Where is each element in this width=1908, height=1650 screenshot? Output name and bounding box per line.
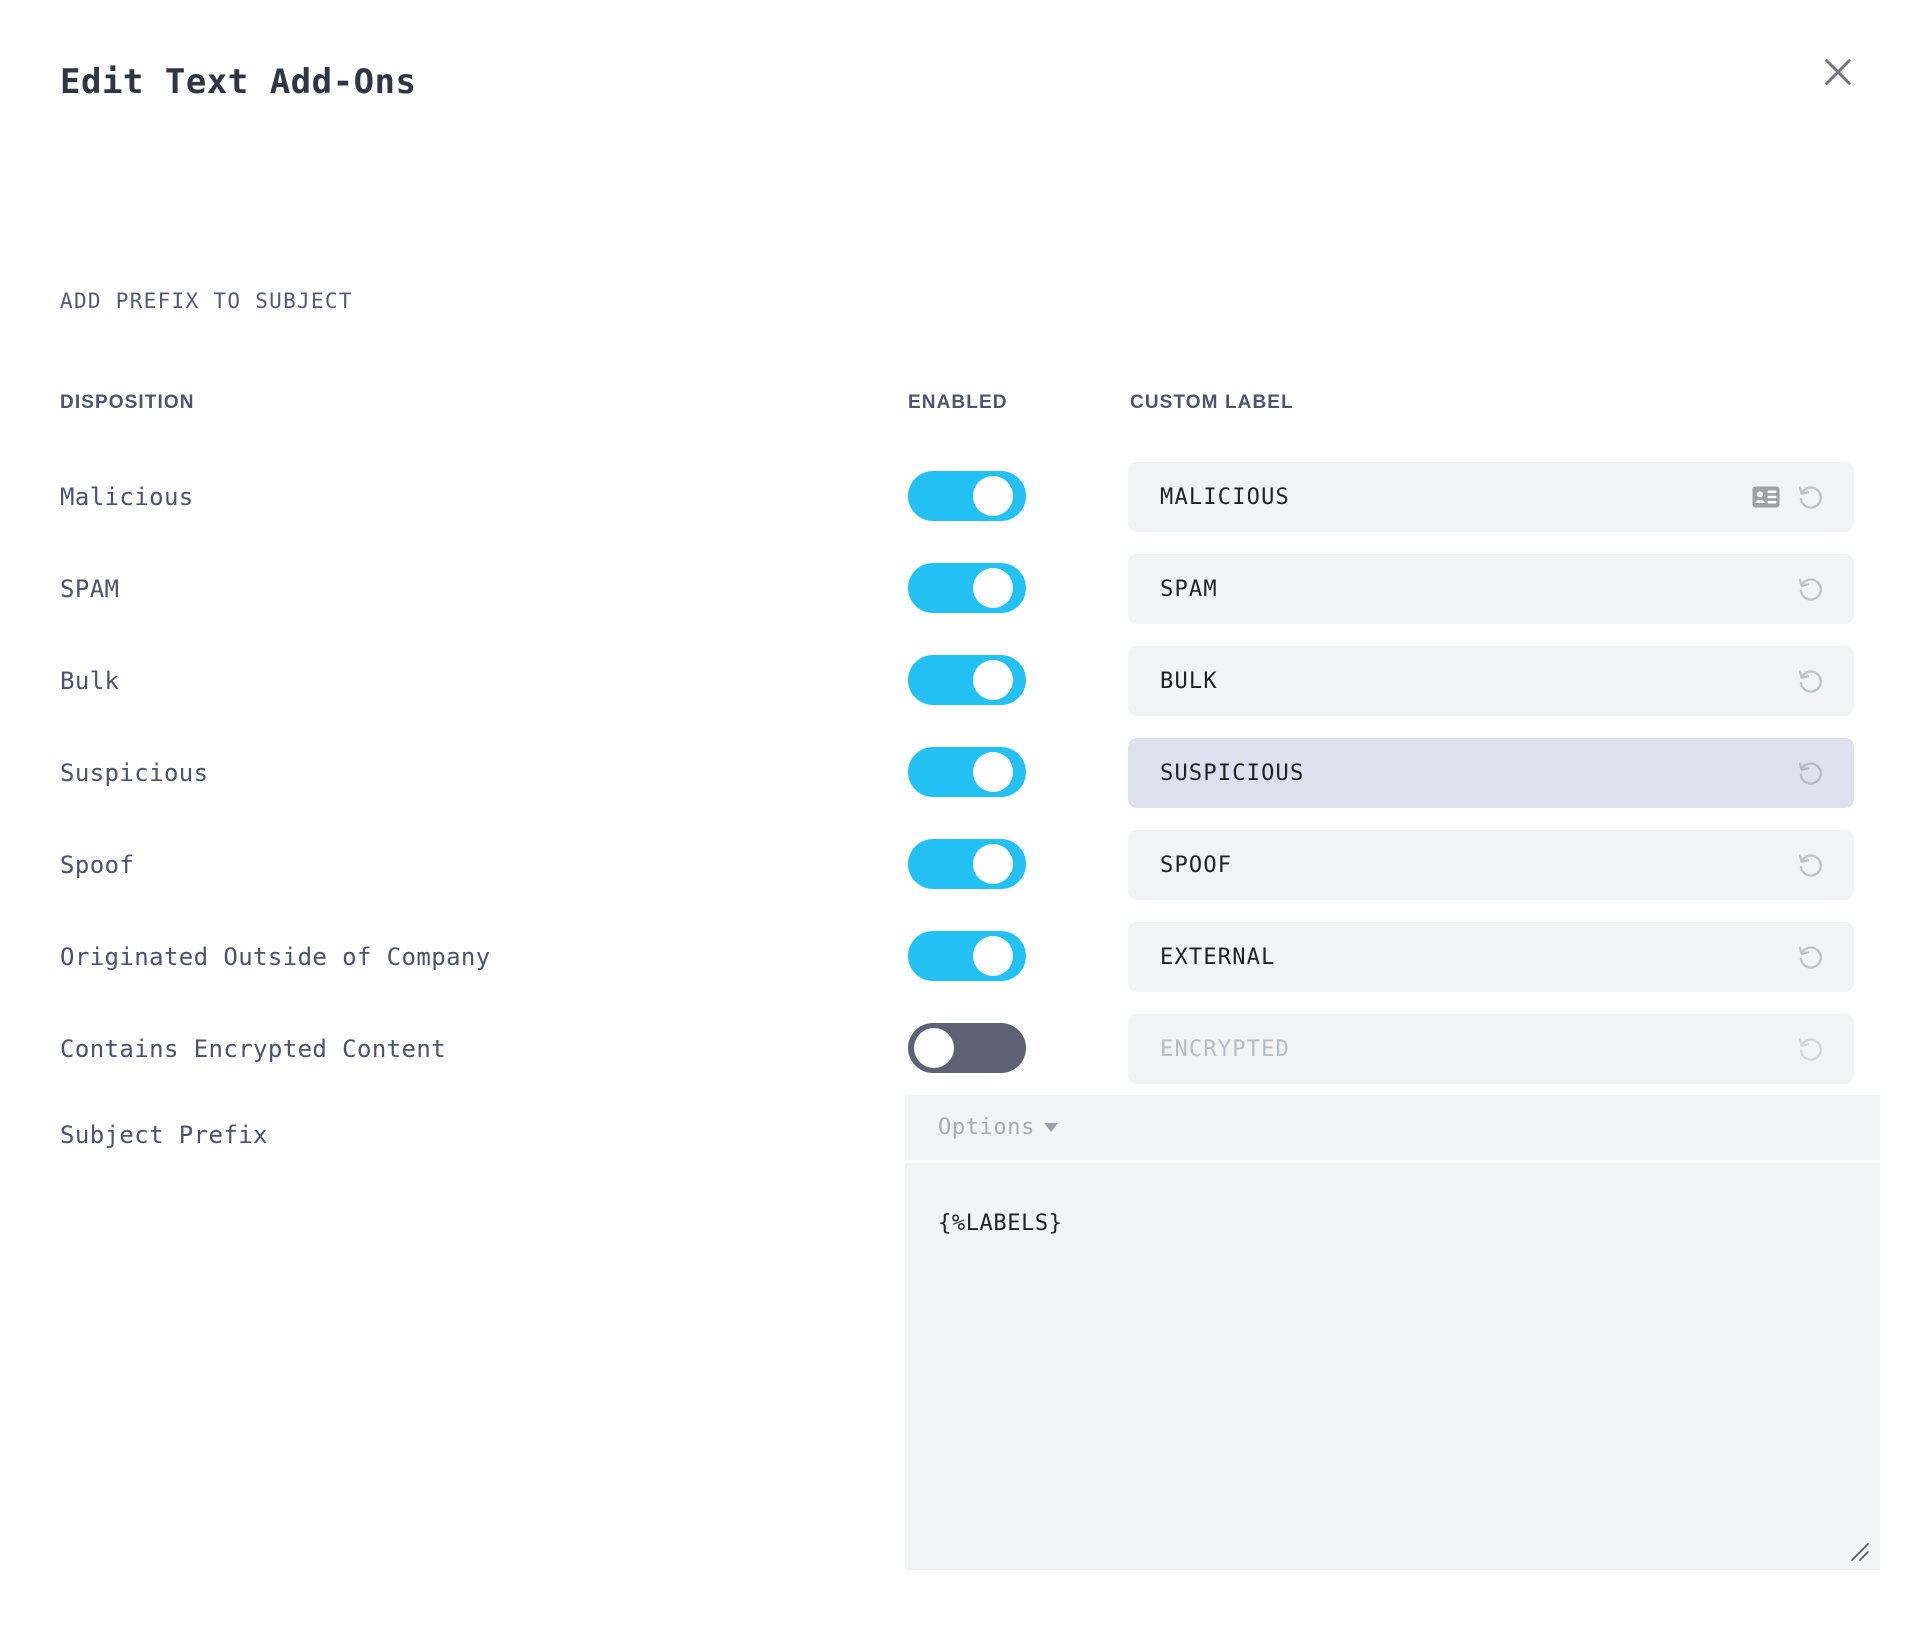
field-icon-group [1796,574,1826,604]
enabled-toggle[interactable] [908,471,1026,521]
reset-icon[interactable] [1796,758,1826,788]
disposition-label: Suspicious [60,759,209,787]
enabled-toggle[interactable] [908,1023,1026,1073]
field-icon-group [1796,942,1826,972]
section-caption: ADD PREFIX TO SUBJECT [60,289,353,313]
disposition-label: Bulk [60,667,119,695]
enabled-toggle[interactable] [908,655,1026,705]
disposition-label: Malicious [60,483,194,511]
options-dropdown[interactable]: Options [938,1115,1058,1140]
custom-label-input[interactable]: SUSPICIOUS [1128,738,1854,808]
field-icon-group [1796,1034,1826,1064]
disposition-label: SPAM [60,575,119,603]
subject-prefix-value: {%LABELS} [938,1211,1063,1236]
field-icon-group [1796,758,1826,788]
subject-prefix-editor: Options {%LABELS} [905,1095,1880,1570]
editor-toolbar: Options [905,1095,1880,1160]
column-header-custom-label: CUSTOM LABEL [1130,392,1294,414]
contact-card-icon[interactable] [1752,486,1780,508]
table-row: SpoofSPOOF [0,827,1908,919]
page-title: Edit Text Add-Ons [60,62,417,102]
table-row: Originated Outside of CompanyEXTERNAL [0,919,1908,1011]
custom-label-value: SPAM [1160,577,1796,602]
custom-label-value: SUSPICIOUS [1160,761,1796,786]
reset-icon[interactable] [1796,942,1826,972]
reset-icon[interactable] [1796,574,1826,604]
custom-label-input[interactable]: BULK [1128,646,1854,716]
reset-icon[interactable] [1796,666,1826,696]
custom-label-value: BULK [1160,669,1796,694]
field-icon-group [1796,666,1826,696]
reset-icon[interactable] [1796,850,1826,880]
toggle-knob [914,1028,954,1068]
custom-label-value: EXTERNAL [1160,945,1796,970]
table-row: SuspiciousSUSPICIOUS [0,735,1908,827]
edit-text-addons-dialog: Edit Text Add-Ons ADD PREFIX TO SUBJECT … [0,0,1908,1650]
table-row: BulkBULK [0,643,1908,735]
enabled-toggle[interactable] [908,747,1026,797]
table-row: MaliciousMALICIOUS [0,459,1908,551]
toggle-knob [973,568,1013,608]
table-row: SPAMSPAM [0,551,1908,643]
enabled-toggle[interactable] [908,931,1026,981]
subject-prefix-textarea[interactable]: {%LABELS} [905,1163,1880,1570]
enabled-toggle[interactable] [908,839,1026,889]
disposition-table: MaliciousMALICIOUSSPAMSPAMBulkBULKSuspic… [0,459,1908,1103]
custom-label-input[interactable]: ENCRYPTED [1128,1014,1854,1084]
toggle-knob [973,660,1013,700]
custom-label-input[interactable]: EXTERNAL [1128,922,1854,992]
subject-prefix-label: Subject Prefix [60,1121,268,1149]
custom-label-input[interactable]: SPOOF [1128,830,1854,900]
custom-label-input[interactable]: MALICIOUS [1128,462,1854,532]
options-dropdown-label: Options [938,1115,1035,1140]
toggle-knob [973,476,1013,516]
column-header-disposition: DISPOSITION [60,392,195,414]
reset-icon[interactable] [1796,482,1826,512]
disposition-label: Contains Encrypted Content [60,1035,446,1063]
chevron-down-icon [1044,1123,1058,1132]
custom-label-value: ENCRYPTED [1160,1037,1796,1062]
table-row: Contains Encrypted ContentENCRYPTED [0,1011,1908,1103]
toggle-knob [973,936,1013,976]
custom-label-value: SPOOF [1160,853,1796,878]
close-button[interactable] [1806,40,1870,104]
toggle-knob [973,844,1013,884]
disposition-label: Originated Outside of Company [60,943,491,971]
field-icon-group [1752,482,1826,512]
custom-label-input[interactable]: SPAM [1128,554,1854,624]
field-icon-group [1796,850,1826,880]
disposition-label: Spoof [60,851,134,879]
resize-handle-icon[interactable] [1848,1540,1872,1564]
custom-label-value: MALICIOUS [1160,485,1752,510]
reset-icon[interactable] [1796,1034,1826,1064]
toggle-knob [973,752,1013,792]
column-header-enabled: ENABLED [908,392,1008,414]
enabled-toggle[interactable] [908,563,1026,613]
close-icon [1821,55,1855,89]
